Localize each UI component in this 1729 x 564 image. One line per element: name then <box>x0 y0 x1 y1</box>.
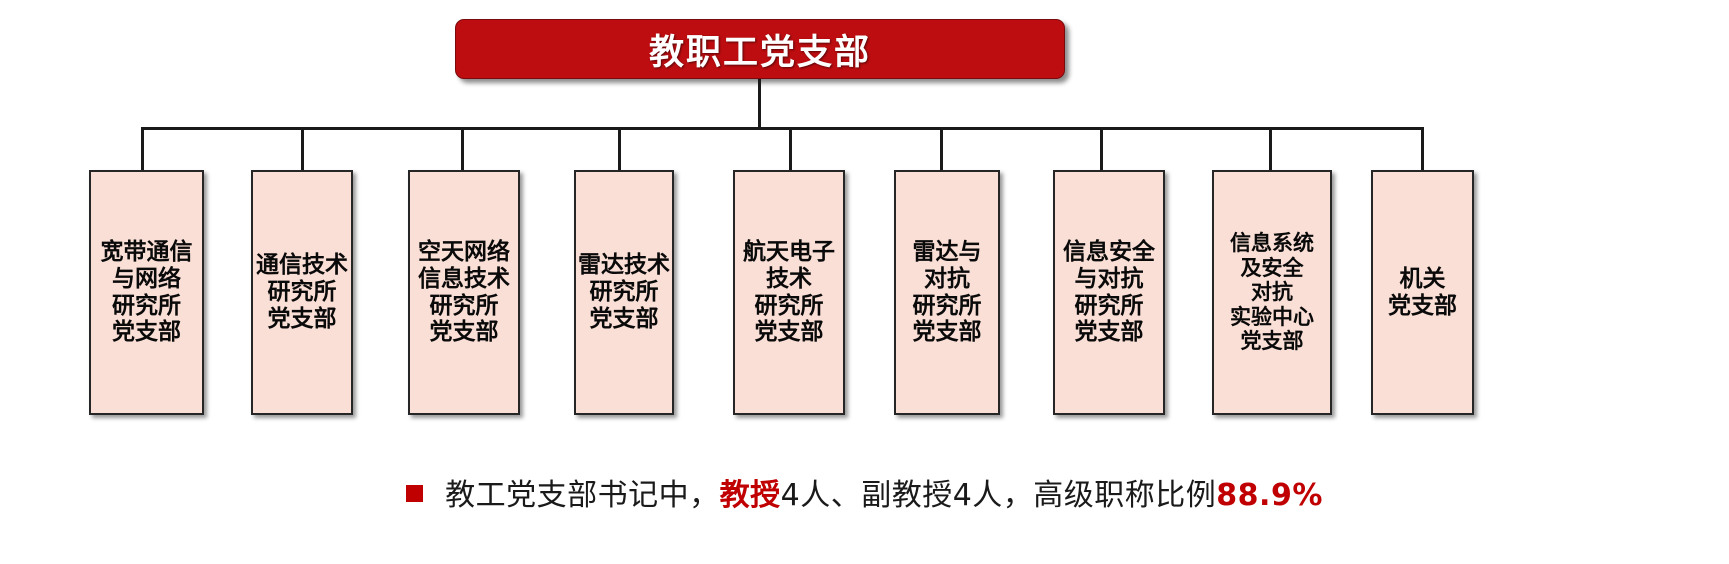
connector-bus-horizontal <box>141 127 1423 130</box>
node-information-security-countermeasure-institute[interactable]: 信息安全 与对抗 研究所 党支部 <box>1053 170 1165 415</box>
connector-drop-8 <box>1269 127 1272 171</box>
node-radar-technology-institute[interactable]: 雷达技术 研究所 党支部 <box>574 170 674 415</box>
connector-stem-vertical <box>758 79 761 129</box>
caption-segment-1: 教工党支部书记中， <box>445 478 720 513</box>
root-node-label: 教职工党支部 <box>649 24 871 75</box>
node-communication-technology-institute[interactable]: 通信技术 研究所 党支部 <box>251 170 353 415</box>
node-label: 航天电子 技术 研究所 党支部 <box>743 239 835 347</box>
connector-drop-9 <box>1421 127 1424 171</box>
node-broadband-comm-network-institute[interactable]: 宽带通信 与网络 研究所 党支部 <box>89 170 204 415</box>
org-chart: 教职工党支部 宽带通信 与网络 研究所 党支部 通信技术 研究所 党支部 空天网… <box>0 0 1729 564</box>
caption-text: 教工党支部书记中，教授4人、副教授4人，高级职称比例88.9% <box>445 470 1323 514</box>
node-label: 雷达技术 研究所 党支部 <box>578 252 670 333</box>
connector-drop-5 <box>789 127 792 171</box>
node-aerospace-electronics-institute[interactable]: 航天电子 技术 研究所 党支部 <box>733 170 845 415</box>
caption-segment-professor: 教授 <box>720 478 781 513</box>
connector-drop-3 <box>461 127 464 171</box>
node-label: 信息系统 及安全 对抗 实验中心 党支部 <box>1230 231 1314 354</box>
node-radar-countermeasure-institute[interactable]: 雷达与 对抗 研究所 党支部 <box>894 170 1000 415</box>
node-label: 雷达与 对抗 研究所 党支部 <box>913 239 982 347</box>
node-label: 机关 党支部 <box>1388 266 1457 320</box>
red-square-bullet-icon <box>406 485 423 502</box>
node-aerospace-network-info-tech-institute[interactable]: 空天网络 信息技术 研究所 党支部 <box>408 170 520 415</box>
connector-drop-6 <box>940 127 943 171</box>
connector-drop-1 <box>141 127 144 171</box>
caption-segment-ratio: 88.9% <box>1216 478 1323 513</box>
connector-drop-7 <box>1100 127 1103 171</box>
node-label: 信息安全 与对抗 研究所 党支部 <box>1063 239 1155 347</box>
node-info-system-security-countermeasure-lab[interactable]: 信息系统 及安全 对抗 实验中心 党支部 <box>1212 170 1332 415</box>
connector-drop-4 <box>618 127 621 171</box>
root-node-teaching-staff-party-branch[interactable]: 教职工党支部 <box>455 19 1065 79</box>
node-label: 空天网络 信息技术 研究所 党支部 <box>418 239 510 347</box>
connector-drop-2 <box>301 127 304 171</box>
node-label: 宽带通信 与网络 研究所 党支部 <box>101 239 193 347</box>
node-label: 通信技术 研究所 党支部 <box>256 252 348 333</box>
caption: 教工党支部书记中，教授4人、副教授4人，高级职称比例88.9% <box>0 470 1729 514</box>
node-administrative-office-party-branch[interactable]: 机关 党支部 <box>1371 170 1474 415</box>
caption-segment-3: 4人、副教授4人，高级职称比例 <box>781 478 1217 513</box>
